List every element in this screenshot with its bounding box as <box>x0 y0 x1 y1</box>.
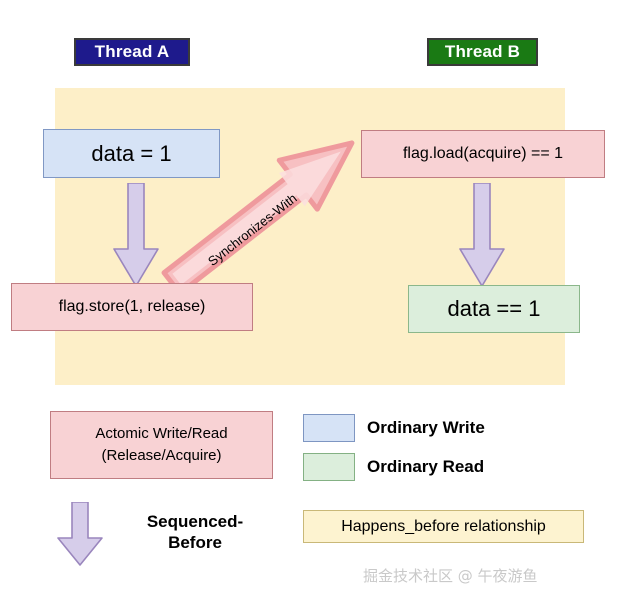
legend-sequenced-before-label: Sequenced- Before <box>120 511 270 554</box>
legend-atomic-line1: Actomic Write/Read <box>95 423 227 445</box>
watermark-text: 掘金技术社区 @ 午夜游鱼 <box>363 565 538 586</box>
op-box-data-write: data = 1 <box>43 129 220 178</box>
op-box-data-read: data == 1 <box>408 285 580 333</box>
legend-ordinary-read-swatch <box>303 453 355 481</box>
legend-atomic-line2: (Release/Acquire) <box>101 445 221 467</box>
legend-ordinary-read-label: Ordinary Read <box>367 457 484 477</box>
legend-atomic-swatch: Actomic Write/Read (Release/Acquire) <box>50 411 273 479</box>
thread-a-header: Thread A <box>74 38 190 66</box>
thread-b-header: Thread B <box>427 38 538 66</box>
legend-sequenced-before-arrow-icon <box>57 502 103 566</box>
sequenced-before-arrow-thread-b <box>459 183 505 287</box>
legend-happens-before-box: Happens_before relationship <box>303 510 584 543</box>
legend-ordinary-write-swatch <box>303 414 355 442</box>
diagram-canvas: Thread A Thread B Synchronizes-With data… <box>0 0 625 598</box>
op-box-flag-store: flag.store(1, release) <box>11 283 253 331</box>
op-box-flag-load: flag.load(acquire) == 1 <box>361 130 605 178</box>
legend-ordinary-write-label: Ordinary Write <box>367 418 485 438</box>
legend-sequenced-before-line1: Sequenced- <box>120 511 270 532</box>
sequenced-before-arrow-thread-a <box>113 183 159 287</box>
legend-sequenced-before-line2: Before <box>120 532 270 553</box>
